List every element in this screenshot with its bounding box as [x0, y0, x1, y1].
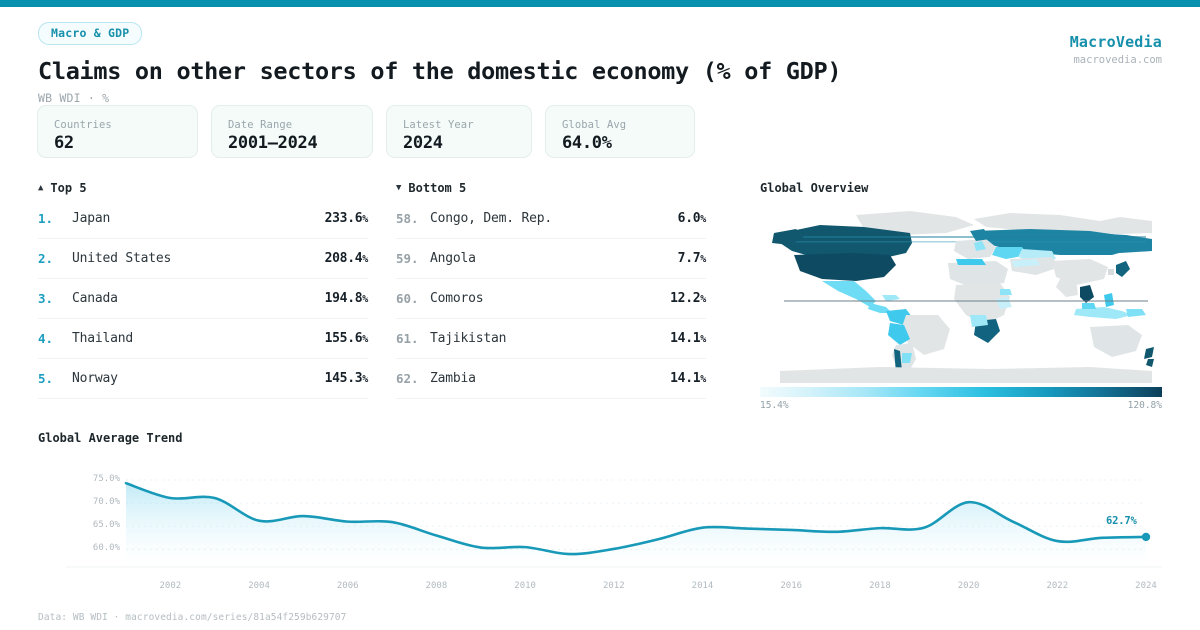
table-row[interactable]: 5. Norway 145.3%: [38, 359, 368, 399]
bottom5-panel: ▼ Bottom 5 58. Congo, Dem. Rep. 6.0% 59.…: [396, 181, 706, 399]
stat-card-global-avg: Global Avg 64.0%: [545, 105, 695, 158]
x-tick-label: 2014: [683, 581, 723, 591]
stat-value: 62: [54, 133, 181, 153]
page-header: Macro & GDP Claims on other sectors of t…: [38, 22, 841, 105]
table-row[interactable]: 4. Thailand 155.6%: [38, 319, 368, 359]
global-overview-panel: Global Overview: [760, 181, 1162, 411]
x-tick-label: 2002: [150, 581, 190, 591]
metric-value: 6.0%: [678, 211, 706, 226]
bottom5-heading: ▼ Bottom 5: [396, 181, 706, 195]
stat-card-date-range: Date Range 2001–2024: [211, 105, 373, 158]
country-name: Congo, Dem. Rep.: [430, 211, 678, 226]
top5-heading: ▲ Top 5: [38, 181, 368, 195]
country-name: Tajikistan: [430, 331, 670, 346]
x-tick-label: 2018: [860, 581, 900, 591]
rank-number: 60.: [396, 291, 430, 306]
stat-card-latest-year: Latest Year 2024: [386, 105, 532, 158]
trend-chart: 60.0%65.0%70.0%75.0% 62.7%: [38, 451, 1162, 579]
map-svg: [760, 203, 1162, 383]
rank-number: 1.: [38, 211, 72, 226]
metric-value: 14.1%: [670, 331, 706, 346]
stat-label: Countries: [54, 119, 181, 131]
rank-number: 58.: [396, 211, 430, 226]
chart-x-axis-labels: 2002200420062008201020122014201620182020…: [38, 579, 1162, 597]
triangle-down-icon: ▼: [396, 184, 401, 193]
chart-endpoint-label: 62.7%: [1106, 515, 1137, 527]
chart-endpoint-marker: [1142, 533, 1150, 541]
country-name: United States: [72, 251, 325, 266]
footer-attribution: Data: WB WDI · macrovedia.com/series/81a…: [38, 612, 346, 623]
table-row[interactable]: 60. Comoros 12.2%: [396, 279, 706, 319]
metric-value: 208.4%: [325, 251, 368, 266]
top5-panel: ▲ Top 5 1. Japan 233.6% 2. United States…: [38, 181, 368, 399]
global-average-trend-panel: Global Average Trend 60.0%65.0%70.0%75.0…: [38, 431, 1162, 597]
trend-svg: [38, 451, 1162, 579]
stat-card-countries: Countries 62: [37, 105, 198, 158]
rank-number: 4.: [38, 331, 72, 346]
rank-number: 3.: [38, 291, 72, 306]
rank-number: 62.: [396, 371, 430, 386]
brand-name: MacroVedia: [1070, 33, 1162, 51]
table-row[interactable]: 61. Tajikistan 14.1%: [396, 319, 706, 359]
page-title: Claims on other sectors of the domestic …: [38, 57, 841, 85]
x-tick-label: 2016: [771, 581, 811, 591]
y-tick-label: 75.0%: [80, 474, 120, 484]
colorbar-max-label: 120.8%: [1128, 400, 1162, 411]
colorbar-min-label: 15.4%: [760, 400, 789, 411]
map-colorbar: [760, 387, 1162, 397]
country-name: Zambia: [430, 371, 670, 386]
table-row[interactable]: 2. United States 208.4%: [38, 239, 368, 279]
top-accent-bar: [0, 0, 1200, 7]
x-tick-label: 2012: [594, 581, 634, 591]
brand-url: macrovedia.com: [1070, 54, 1162, 66]
country-name: Comoros: [430, 291, 670, 306]
x-tick-label: 2020: [949, 581, 989, 591]
rank-number: 61.: [396, 331, 430, 346]
metric-value: 12.2%: [670, 291, 706, 306]
y-tick-label: 70.0%: [80, 497, 120, 507]
metric-value: 194.8%: [325, 291, 368, 306]
chart-area-fill: [126, 483, 1146, 561]
metric-value: 155.6%: [325, 331, 368, 346]
table-row[interactable]: 1. Japan 233.6%: [38, 199, 368, 239]
y-tick-label: 60.0%: [80, 543, 120, 553]
x-tick-label: 2024: [1126, 581, 1166, 591]
page-subtitle: WB WDI · %: [38, 91, 841, 105]
country-name: Norway: [72, 371, 325, 386]
country-name: Thailand: [72, 331, 325, 346]
country-name: Angola: [430, 251, 678, 266]
x-tick-label: 2010: [505, 581, 545, 591]
rank-number: 5.: [38, 371, 72, 386]
table-row[interactable]: 62. Zambia 14.1%: [396, 359, 706, 399]
stat-label: Global Avg: [562, 119, 678, 131]
category-badge: Macro & GDP: [38, 22, 142, 45]
rank-number: 2.: [38, 251, 72, 266]
map-heading: Global Overview: [760, 181, 1162, 195]
rank-number: 59.: [396, 251, 430, 266]
world-choropleth-map: [760, 203, 1162, 383]
stat-label: Latest Year: [403, 119, 515, 131]
y-tick-label: 65.0%: [80, 520, 120, 530]
stat-value: 2024: [403, 133, 515, 153]
stat-label: Date Range: [228, 119, 356, 131]
country-name: Canada: [72, 291, 325, 306]
map-colorbar-labels: 15.4% 120.8%: [760, 400, 1162, 411]
x-tick-label: 2022: [1037, 581, 1077, 591]
stat-card-row: Countries 62 Date Range 2001–2024 Latest…: [37, 105, 695, 158]
stat-value: 2001–2024: [228, 133, 356, 153]
metric-value: 145.3%: [325, 371, 368, 386]
x-tick-label: 2004: [239, 581, 279, 591]
table-row[interactable]: 58. Congo, Dem. Rep. 6.0%: [396, 199, 706, 239]
top5-heading-label: Top 5: [50, 181, 86, 195]
bottom5-heading-label: Bottom 5: [408, 181, 466, 195]
stat-value: 64.0%: [562, 133, 678, 153]
metric-value: 14.1%: [670, 371, 706, 386]
metric-value: 7.7%: [678, 251, 706, 266]
triangle-up-icon: ▲: [38, 184, 43, 193]
x-tick-label: 2008: [416, 581, 456, 591]
table-row[interactable]: 3. Canada 194.8%: [38, 279, 368, 319]
table-row[interactable]: 59. Angola 7.7%: [396, 239, 706, 279]
x-tick-label: 2006: [328, 581, 368, 591]
country-name: Japan: [72, 211, 325, 226]
metric-value: 233.6%: [325, 211, 368, 226]
brand-block: MacroVedia macrovedia.com: [1070, 33, 1162, 66]
trend-heading: Global Average Trend: [38, 431, 1162, 445]
